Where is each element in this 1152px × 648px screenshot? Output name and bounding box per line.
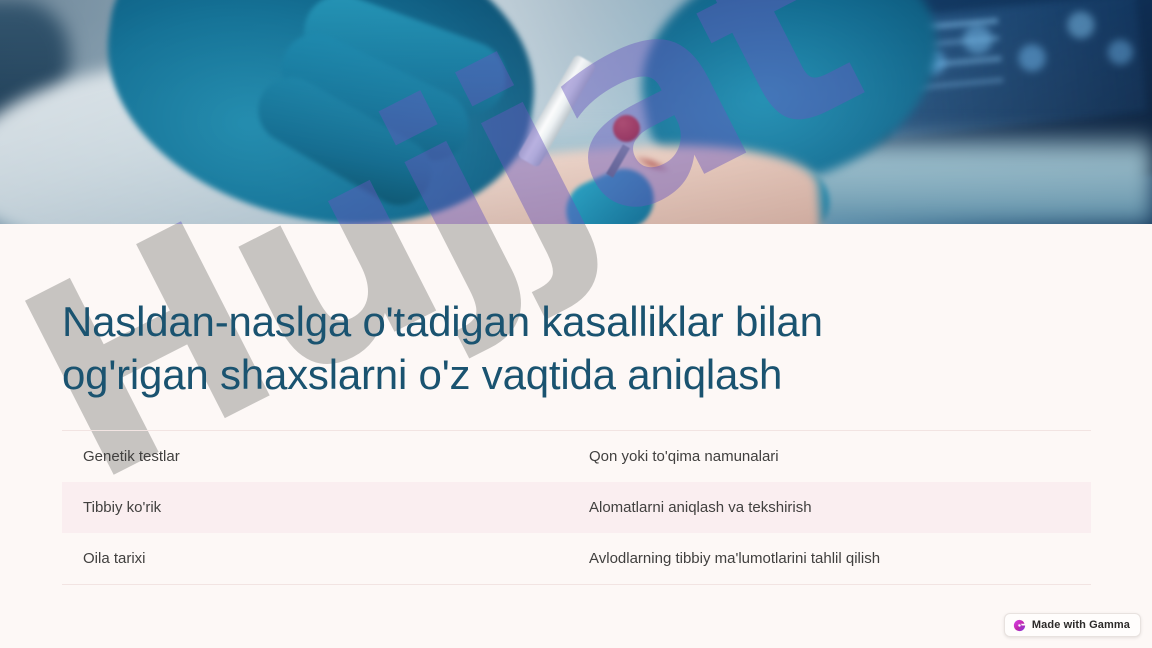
slide-content: Nasldan-naslga o'tadigan kasalliklar bil…	[0, 224, 1152, 648]
badge-label: Made with Gamma	[1032, 619, 1130, 631]
table-cell-description: Alomatlarni aniqlash va tekshirish	[575, 500, 1091, 515]
hero-image	[0, 0, 1152, 224]
gamma-logo-icon	[1013, 619, 1026, 632]
presentation-slide: Hujjat Nasldan-naslga o'tadigan kasallik…	[0, 0, 1152, 648]
table-row: Genetik testlar Qon yoki to'qima namunal…	[62, 431, 1091, 482]
table-cell-method: Oila tarixi	[62, 551, 575, 566]
table-cell-description: Qon yoki to'qima namunalari	[575, 449, 1091, 464]
made-with-gamma-badge[interactable]: Made with Gamma	[1004, 613, 1141, 637]
table-cell-description: Avlodlarning tibbiy ma'lumotlarini tahli…	[575, 551, 1091, 566]
methods-table: Genetik testlar Qon yoki to'qima namunal…	[62, 430, 1091, 585]
table-cell-method: Tibbiy ko'rik	[62, 500, 575, 515]
hero-artwork	[0, 0, 1152, 224]
table-row: Tibbiy ko'rik Alomatlarni aniqlash va te…	[62, 482, 1091, 533]
table-row: Oila tarixi Avlodlarning tibbiy ma'lumot…	[62, 533, 1091, 584]
page-title: Nasldan-naslga o'tadigan kasalliklar bil…	[62, 296, 962, 402]
hero-vignette	[0, 0, 1152, 224]
table-cell-method: Genetik testlar	[62, 449, 575, 464]
